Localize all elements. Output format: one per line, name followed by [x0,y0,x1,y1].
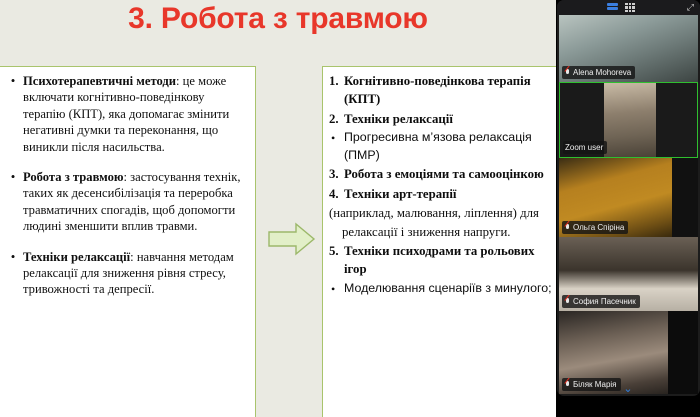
list-item: 1. Когнітивно-поведінкова терапія (КПТ) [327,72,555,109]
right-content-box: 1. Когнітивно-поведінкова терапія (КПТ) … [322,66,556,417]
expand-icon[interactable]: ⤢ [687,3,694,12]
participant-name: Zoom user [565,142,603,153]
participant-tile[interactable]: Zoom user [559,82,698,158]
chevron-down-icon[interactable]: ⌄ [619,385,637,393]
list-item-text: Прогресивна м’язова релаксація (ПМР) [344,129,555,164]
mic-muted-icon [564,223,571,232]
gallery-view-icon[interactable] [625,3,636,12]
presentation-slide: 3. Робота з травмою • Психотерапевтичні … [0,0,556,417]
side-by-side-view-icon[interactable] [607,3,618,12]
list-item-lead: Техніки релаксації [23,250,130,264]
list-marker: 3. [327,165,344,183]
participant-name: София Пасечник [573,296,636,307]
participant-tile[interactable]: Alena Mohoreva [559,15,698,82]
minimize-icon[interactable] [571,3,582,12]
bullet-icon: • [3,249,23,298]
list-item-text: Моделювання сценаріїв з минулого; [344,280,555,298]
list-item: • Прогресивна м’язова релаксація (ПМР) [327,129,555,164]
zoom-video-panel: ⤢ Alena Mohoreva Zoom user Ольга Спіріна [556,0,700,417]
bullet-icon: • [327,280,344,298]
participant-label: София Пасечник [562,295,640,308]
participant-label: Біляк Марія [562,378,621,391]
participant-tile[interactable]: София Пасечник [559,237,698,311]
list-marker: 2. [327,110,344,128]
list-item-text: Техніки психодрами та рольових ігор [344,242,555,279]
list-item-lead: Психотерапевтичні методи [23,74,176,88]
participant-label: Ольга Спіріна [562,221,628,234]
list-item-text: (наприклад, малювання, ліплення) для рел… [329,204,555,241]
list-item-text: Робота з травмою: застосування технік, т… [23,169,251,235]
list-item-lead: Робота з травмою [23,170,124,184]
zoom-floating-window: ⤢ Alena Mohoreva Zoom user Ольга Спіріна [557,0,700,396]
left-content-box: • Психотерапевтичні методи: це може вклю… [0,66,256,417]
participant-name: Alena Mohoreva [573,67,631,78]
list-item: 3. Робота з емоціями та самооцінкою [327,165,555,183]
speaker-view-icon[interactable] [589,3,600,12]
list-item-text: Когнітивно-поведінкова терапія (КПТ) [344,72,555,109]
list-marker: 4. [327,185,344,203]
list-item-text: Техніки релаксації [344,110,555,128]
list-marker: 1. [327,72,344,109]
list-marker: 5. [327,242,344,279]
list-item: • Психотерапевтичні методи: це може вклю… [3,73,251,155]
list-item: (наприклад, малювання, ліплення) для рел… [327,204,555,241]
bullet-icon: • [3,73,23,155]
zoom-view-toolbar[interactable]: ⤢ [557,0,700,15]
participant-label: Zoom user [563,141,607,154]
slide-title: 3. Робота з травмою [0,2,556,36]
video-letterbox [668,311,698,394]
participant-label: Alena Mohoreva [562,66,635,79]
bullet-icon: • [327,129,344,164]
list-item-text: Техніки арт-терапії [344,185,555,203]
list-item: 2. Техніки релаксації [327,110,555,128]
bullet-icon: • [3,169,23,235]
list-item-text: Техніки релаксації: навчання методам рел… [23,249,251,298]
video-letterbox [672,158,698,237]
participant-name: Ольга Спіріна [573,222,624,233]
list-item-text: Психотерапевтичні методи: це може включа… [23,73,251,155]
right-arrow-icon [268,222,316,256]
participant-tile[interactable]: Ольга Спіріна [559,158,698,237]
mic-muted-icon [564,380,571,389]
list-item: • Робота з травмою: застосування технік,… [3,169,251,235]
mic-muted-icon [564,68,571,77]
list-item-text: Робота з емоціями та самооцінкою [344,165,555,183]
video-feed [604,83,656,157]
list-item: • Моделювання сценаріїв з минулого; [327,280,555,298]
participant-tile[interactable]: Біляк Марія [559,311,698,394]
list-item: 4. Техніки арт-терапії [327,185,555,203]
mic-muted-icon [564,297,571,306]
panel-background [556,396,700,417]
list-item: 5. Техніки психодрами та рольових ігор [327,242,555,279]
list-item: • Техніки релаксації: навчання методам р… [3,249,251,298]
participant-name: Біляк Марія [573,379,617,390]
